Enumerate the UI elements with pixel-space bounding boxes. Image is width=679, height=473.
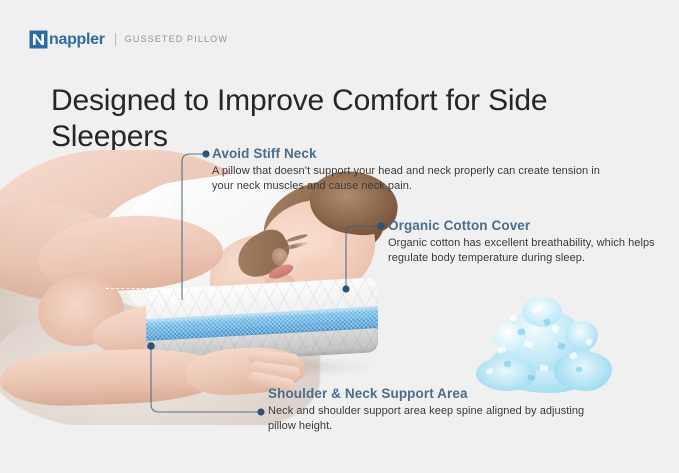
- callout-shoulder-neck-support: Shoulder & Neck Support Area Neck and sh…: [268, 386, 598, 433]
- callout-organic-cotton-cover: Organic Cotton Cover Organic cotton has …: [388, 218, 668, 265]
- foam-chunk-detail: [470, 295, 620, 395]
- brand-divider: [115, 33, 116, 46]
- height-measure-dashed-line: [106, 288, 246, 289]
- callout-title: Shoulder & Neck Support Area: [268, 386, 598, 402]
- callout-body: Neck and shoulder support area keep spin…: [268, 404, 598, 433]
- page-title: Designed to Improve Comfort for Side Sle…: [51, 83, 611, 155]
- brand-name: nappler: [49, 30, 105, 49]
- callout-avoid-stiff-neck: Avoid Stiff Neck A pillow that doesn’t s…: [212, 146, 602, 193]
- product-category-label: GUSSETED PILLOW: [125, 30, 228, 49]
- infographic-canvas: nappler GUSSETED PILLOW Designed to Impr…: [0, 0, 679, 473]
- callout-title: Organic Cotton Cover: [388, 218, 668, 234]
- callout-body: A pillow that doesn’t support your head …: [212, 164, 602, 193]
- shredded-memory-foam-pile: [470, 295, 620, 395]
- callout-body: Organic cotton has excellent breathabili…: [388, 236, 668, 265]
- callout-title: Avoid Stiff Neck: [212, 146, 602, 162]
- brand-bar: nappler GUSSETED PILLOW: [29, 29, 228, 49]
- height-measure-dashed-tick: [195, 288, 196, 306]
- nappler-n-logo-icon: [29, 30, 48, 49]
